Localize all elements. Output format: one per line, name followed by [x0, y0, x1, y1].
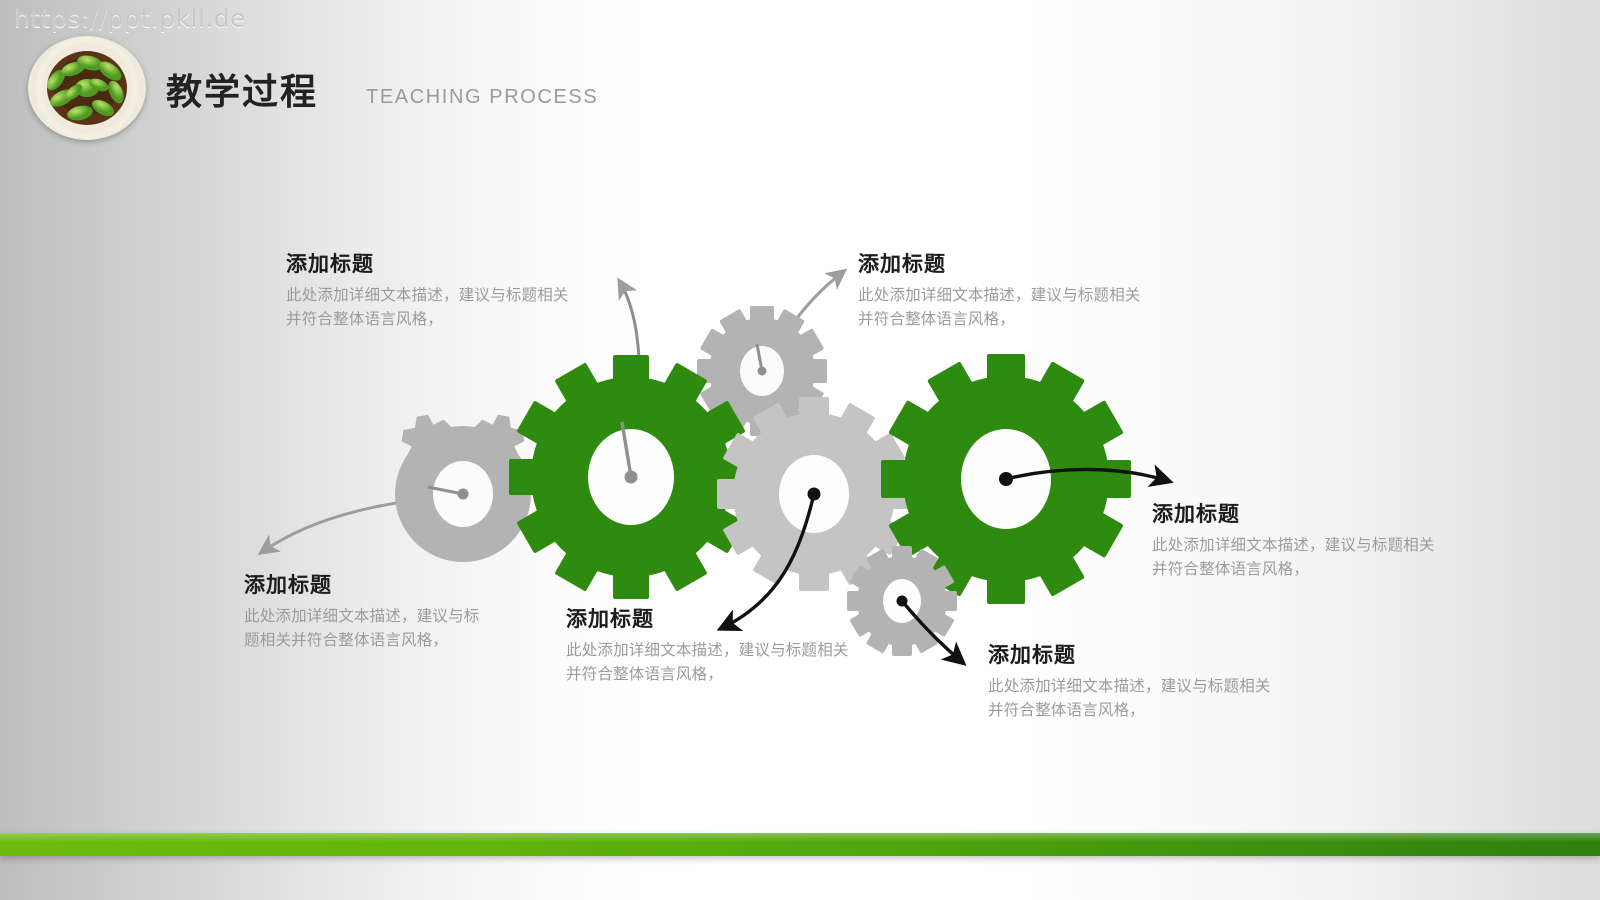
block-title: 添加标题 — [244, 574, 524, 598]
text-block-left[interactable]: 添加标题 此处添加详细文本描述，建议与标 题相关并符合整体语言风格， — [244, 574, 524, 652]
block-body-line: 此处添加详细文本描述，建议与标题相关 — [566, 639, 896, 663]
block-title: 添加标题 — [1152, 503, 1482, 527]
text-block-bottom-right[interactable]: 添加标题 此处添加详细文本描述，建议与标题相关 并符合整体语言风格， — [988, 644, 1318, 722]
block-body: 此处添加详细文本描述，建议与标 题相关并符合整体语言风格， — [244, 605, 524, 652]
bottom-accent-bar — [0, 833, 1600, 856]
block-body-line: 此处添加详细文本描述，建议与标题相关 — [988, 675, 1318, 699]
block-body-line: 并符合整体语言风格， — [858, 308, 1188, 332]
block-body-line: 题相关并符合整体语言风格， — [244, 629, 524, 653]
block-title: 添加标题 — [566, 608, 896, 632]
block-body-line: 此处添加详细文本描述，建议与标 — [244, 605, 524, 629]
slide-canvas: https://ppt.pkll.de — [0, 0, 1600, 900]
text-block-bottom-center[interactable]: 添加标题 此处添加详细文本描述，建议与标题相关 并符合整体语言风格， — [566, 608, 896, 686]
bottom-accent-bar-sheen — [0, 833, 1600, 842]
text-block-right[interactable]: 添加标题 此处添加详细文本描述，建议与标题相关 并符合整体语言风格， — [1152, 503, 1482, 581]
block-body-line: 此处添加详细文本描述，建议与标题相关 — [286, 284, 616, 308]
block-body: 此处添加详细文本描述，建议与标题相关 并符合整体语言风格， — [286, 284, 616, 331]
block-body-line: 并符合整体语言风格， — [566, 663, 896, 687]
gear-diagram — [0, 0, 1600, 900]
block-title: 添加标题 — [286, 253, 616, 277]
block-body: 此处添加详细文本描述，建议与标题相关 并符合整体语言风格， — [566, 639, 896, 686]
block-title: 添加标题 — [858, 253, 1188, 277]
block-body-line: 并符合整体语言风格， — [1152, 558, 1482, 582]
block-title: 添加标题 — [988, 644, 1318, 668]
block-body: 此处添加详细文本描述，建议与标题相关 并符合整体语言风格， — [1152, 534, 1482, 581]
block-body-line: 此处添加详细文本描述，建议与标题相关 — [1152, 534, 1482, 558]
block-body-line: 并符合整体语言风格， — [286, 308, 616, 332]
block-body-line: 此处添加详细文本描述，建议与标题相关 — [858, 284, 1188, 308]
text-block-top-left[interactable]: 添加标题 此处添加详细文本描述，建议与标题相关 并符合整体语言风格， — [286, 253, 616, 331]
block-body: 此处添加详细文本描述，建议与标题相关 并符合整体语言风格， — [858, 284, 1188, 331]
block-body: 此处添加详细文本描述，建议与标题相关 并符合整体语言风格， — [988, 675, 1318, 722]
block-body-line: 并符合整体语言风格， — [988, 699, 1318, 723]
text-block-top-right[interactable]: 添加标题 此处添加详细文本描述，建议与标题相关 并符合整体语言风格， — [858, 253, 1188, 331]
